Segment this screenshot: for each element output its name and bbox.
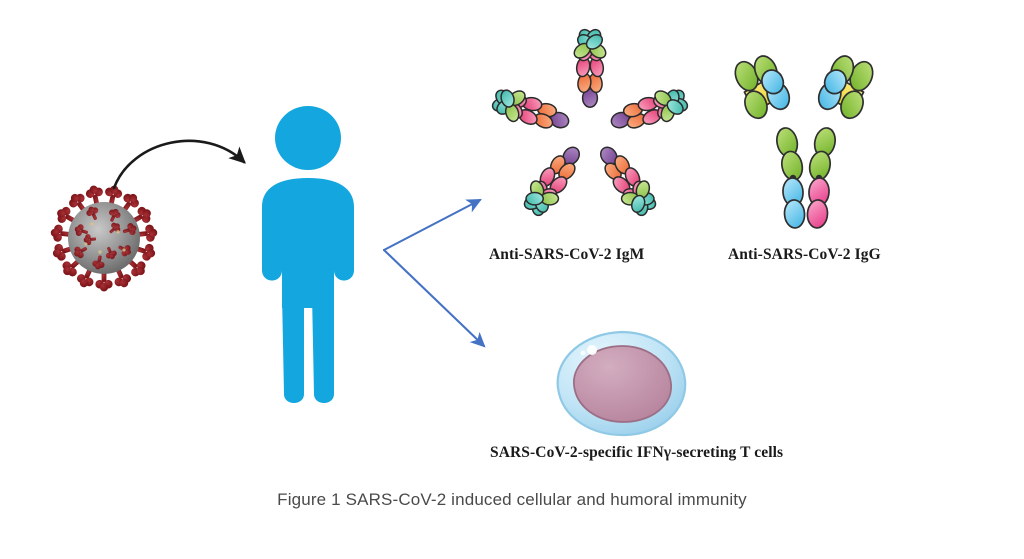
tcell-label: SARS-CoV-2-specific IFNγ-secreting T cel… <box>490 444 783 462</box>
t-cell-illustration <box>532 328 712 440</box>
igg-antibody-illustration <box>718 28 903 238</box>
figure-container: Anti-SARS-CoV-2 IgM Anti-SARS-CoV-2 IgG … <box>0 0 1024 559</box>
igg-label: Anti-SARS-CoV-2 IgG <box>728 246 881 264</box>
human-host-figure <box>228 104 388 414</box>
igm-label: Anti-SARS-CoV-2 IgM <box>489 246 644 264</box>
igm-antibody-illustration <box>478 28 703 233</box>
figure-caption: Figure 1 SARS-CoV-2 induced cellular and… <box>0 490 1024 510</box>
